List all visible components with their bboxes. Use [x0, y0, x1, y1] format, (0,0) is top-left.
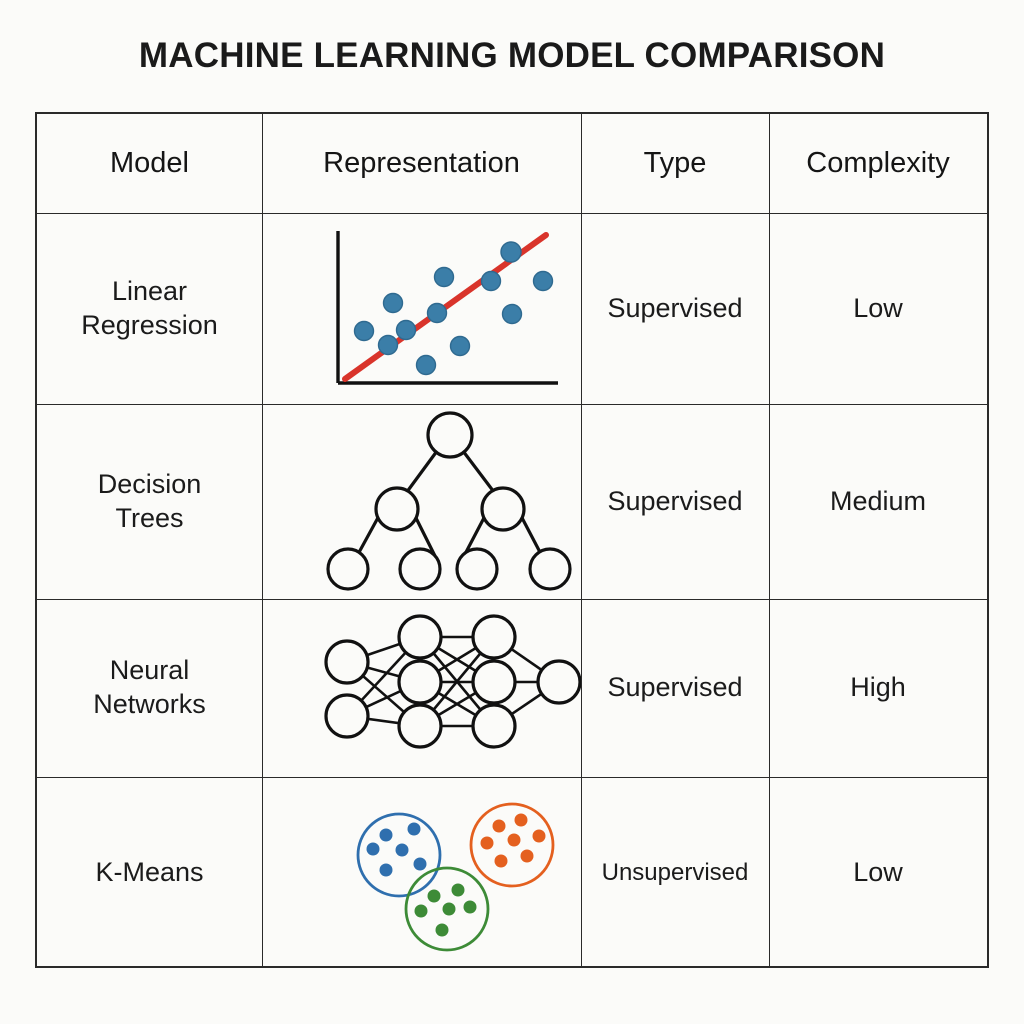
network-edges [347, 637, 559, 726]
scatter-point [534, 272, 553, 291]
column-header-type: Type [581, 114, 769, 213]
tree-node-root [428, 413, 472, 457]
scatter-point [384, 294, 403, 313]
cluster-point [515, 814, 528, 827]
tree-edge [520, 514, 542, 556]
network-node-hidden [473, 616, 515, 658]
table-row: K-Means [37, 777, 262, 968]
tree-node-internal [376, 488, 418, 530]
cell-complexity-decision-trees: Medium [769, 404, 987, 599]
cluster-point [464, 901, 477, 914]
cluster-point [380, 864, 393, 877]
scatter-point [397, 321, 416, 340]
cell-type-linear-regression: Supervised [581, 213, 769, 404]
column-header-model: Model [37, 114, 262, 213]
network-node-output [538, 661, 580, 703]
cluster-point [508, 834, 521, 847]
cell-type-neural-networks: Supervised [581, 599, 769, 777]
network-node-hidden [473, 705, 515, 747]
tree-node-internal [482, 488, 524, 530]
kmeans-svg [262, 777, 581, 968]
cluster-point [414, 858, 427, 871]
scatter-point [501, 242, 521, 262]
representation-scatter-plot [262, 213, 581, 404]
network-node-hidden [399, 616, 441, 658]
scatter-point [428, 304, 447, 323]
scatter-point [482, 272, 501, 291]
representation-kmeans-clusters [262, 777, 581, 968]
cluster-point [443, 903, 456, 916]
scatter-point [355, 322, 374, 341]
cluster-point [521, 850, 534, 863]
cluster-point [415, 905, 428, 918]
tree-node-leaf [457, 549, 497, 589]
column-header-representation: Representation [262, 114, 581, 213]
cell-model-line2: Trees [115, 502, 183, 536]
table-row: Linear Regression [37, 213, 262, 404]
tree-node-leaf [400, 549, 440, 589]
decision-tree-svg [262, 404, 581, 599]
cluster-point [408, 823, 421, 836]
neural-network-svg [262, 599, 581, 777]
cell-model-line1: Neural [110, 654, 190, 688]
cell-type-kmeans: Unsupervised [581, 777, 769, 968]
network-node-input [326, 641, 368, 683]
cell-complexity-linear-regression: Low [769, 213, 987, 404]
cluster-green [406, 868, 488, 950]
table-row: Neural Networks [37, 599, 262, 777]
scatter-point [417, 356, 436, 375]
tree-node-leaf [328, 549, 368, 589]
scatter-plot-svg [262, 213, 581, 404]
page-title: MACHINE LEARNING MODEL COMPARISON [0, 36, 1024, 76]
cluster-orange [471, 804, 553, 886]
network-node-hidden [399, 661, 441, 703]
cluster-point [436, 924, 449, 937]
cluster-point [533, 830, 546, 843]
network-node-hidden [399, 705, 441, 747]
cluster-point [396, 844, 409, 857]
tree-node-leaf [530, 549, 570, 589]
cluster-point [428, 890, 441, 903]
scatter-points [355, 242, 553, 375]
network-node-hidden [473, 661, 515, 703]
cell-model-line2: Regression [81, 309, 218, 343]
cluster-point [493, 820, 506, 833]
comparison-table: Model Representation Type Complexity Lin… [35, 112, 989, 968]
representation-decision-tree [262, 404, 581, 599]
cell-model-line1: Decision [98, 468, 202, 502]
scatter-point [503, 305, 522, 324]
cluster-point [380, 829, 393, 842]
infographic-page: MACHINE LEARNING MODEL COMPARISON Model … [0, 0, 1024, 1024]
cell-type-decision-trees: Supervised [581, 404, 769, 599]
cluster-point [495, 855, 508, 868]
column-header-complexity: Complexity [769, 114, 987, 213]
network-node-input [326, 695, 368, 737]
scatter-point [379, 336, 398, 355]
scatter-point [435, 268, 454, 287]
cluster-point [481, 837, 494, 850]
cell-complexity-kmeans: Low [769, 777, 987, 968]
representation-neural-network [262, 599, 581, 777]
scatter-point [451, 337, 470, 356]
table-row: Decision Trees [37, 404, 262, 599]
cluster-point [452, 884, 465, 897]
cell-model-line1: Linear [112, 275, 187, 309]
tree-nodes [328, 413, 570, 589]
cell-complexity-neural-networks: High [769, 599, 987, 777]
cluster-blue [358, 814, 440, 896]
cluster-point [367, 843, 380, 856]
cell-model-line2: Networks [93, 688, 206, 722]
tree-edge [357, 514, 380, 556]
